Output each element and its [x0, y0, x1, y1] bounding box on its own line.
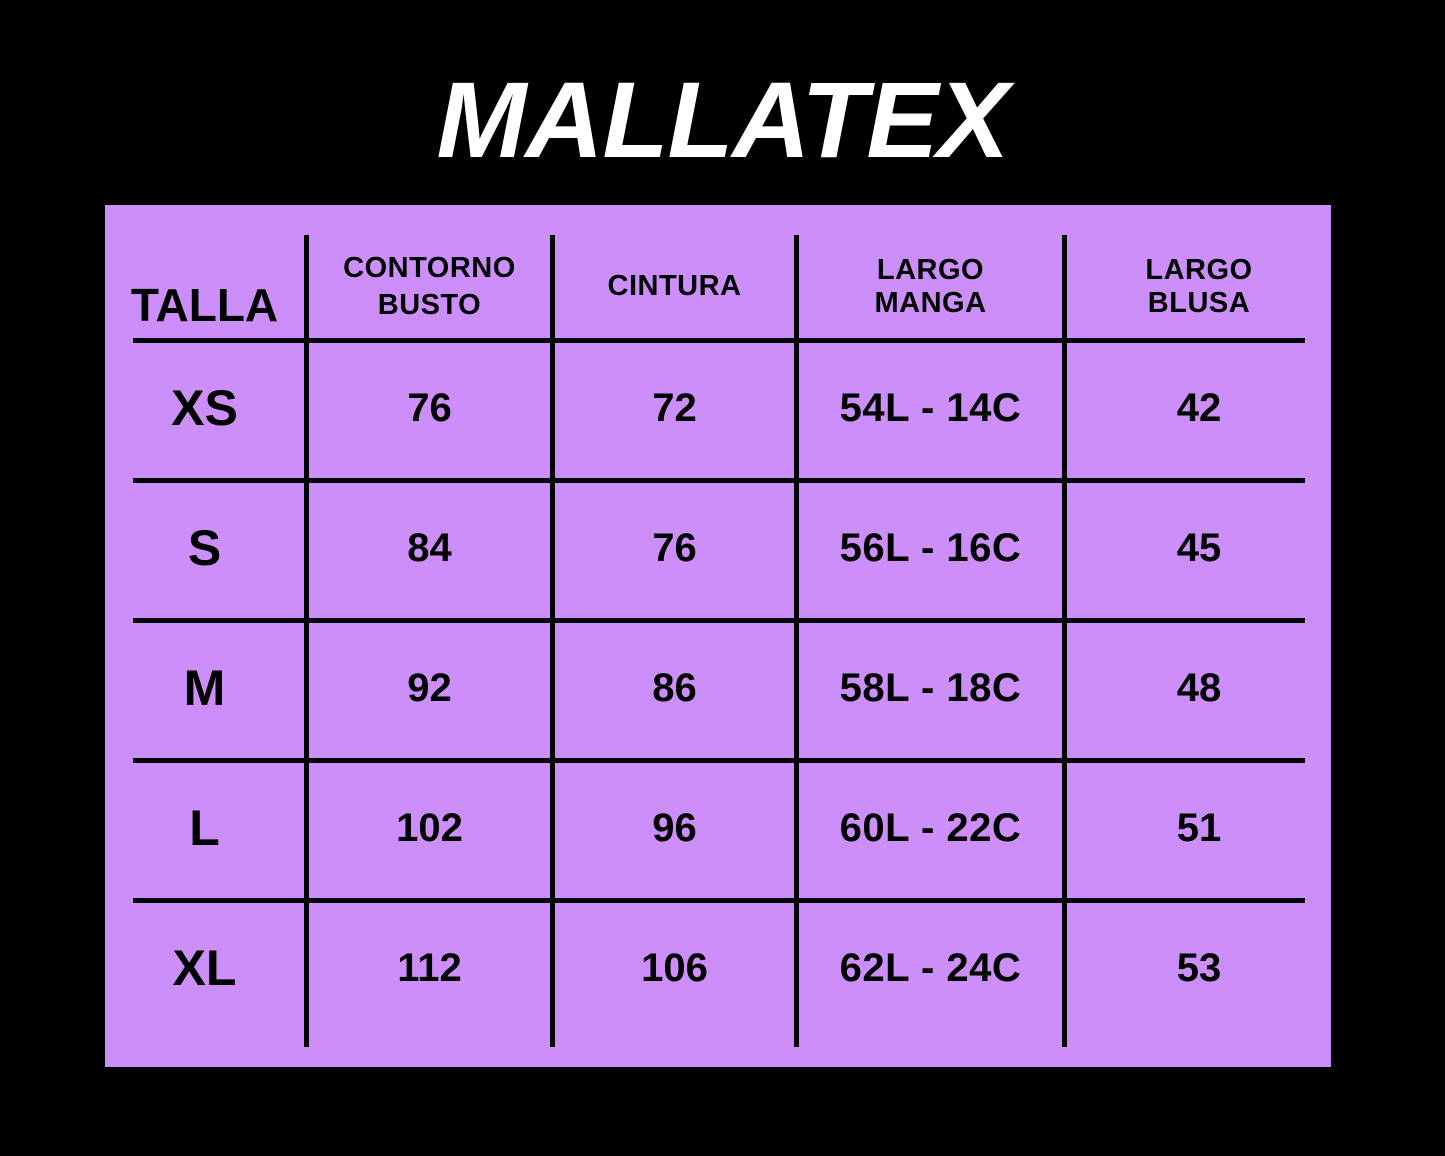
- size-chart-canvas: MALLATEX TALLA CONTORNO BUSTO CINTURA: [0, 0, 1445, 1156]
- column-header-waist: CINTURA: [555, 235, 794, 338]
- column-header-size-label: TALLA: [131, 278, 278, 332]
- table-row: 51: [1067, 758, 1331, 898]
- table-row: 112: [309, 898, 550, 1038]
- column-header-bust-line2: BUSTO: [343, 287, 516, 324]
- column-header-bust: CONTORNO BUSTO: [309, 235, 550, 338]
- table-row: XL: [105, 898, 304, 1038]
- size-table: TALLA CONTORNO BUSTO CINTURA LARGO MANGA…: [105, 205, 1331, 1067]
- column-header-size: TALLA: [105, 235, 304, 338]
- table-row: 92: [309, 618, 550, 758]
- column-header-sleeve-length: LARGO MANGA: [799, 235, 1062, 338]
- table-row: 54L - 14C: [799, 338, 1062, 478]
- table-row: 76: [309, 338, 550, 478]
- table-row: 58L - 18C: [799, 618, 1062, 758]
- table-row: S: [105, 478, 304, 618]
- table-row: 102: [309, 758, 550, 898]
- column-header-blouse-line1: LARGO: [1145, 254, 1252, 286]
- table-row: 42: [1067, 338, 1331, 478]
- column-header-sleeve-line2: MANGA: [874, 287, 986, 319]
- table-row: 56L - 16C: [799, 478, 1062, 618]
- page-title: MALLATEX: [0, 66, 1445, 174]
- table-row: 45: [1067, 478, 1331, 618]
- table-row: 106: [555, 898, 794, 1038]
- table-row: 48: [1067, 618, 1331, 758]
- table-row: 96: [555, 758, 794, 898]
- table-row: 84: [309, 478, 550, 618]
- table-row: 72: [555, 338, 794, 478]
- table-row: 53: [1067, 898, 1331, 1038]
- table-row: 62L - 24C: [799, 898, 1062, 1038]
- column-header-bust-line1: CONTORNO: [343, 250, 516, 287]
- table-row: L: [105, 758, 304, 898]
- table-row: 60L - 22C: [799, 758, 1062, 898]
- table-row: 76: [555, 478, 794, 618]
- table-row: 86: [555, 618, 794, 758]
- table-row: XS: [105, 338, 304, 478]
- column-header-waist-line1: CINTURA: [608, 268, 742, 305]
- column-header-blouse-line2: BLUSA: [1145, 287, 1252, 319]
- column-header-blouse-length: LARGO BLUSA: [1067, 235, 1331, 338]
- column-header-sleeve-line1: LARGO: [874, 254, 986, 286]
- table-row: M: [105, 618, 304, 758]
